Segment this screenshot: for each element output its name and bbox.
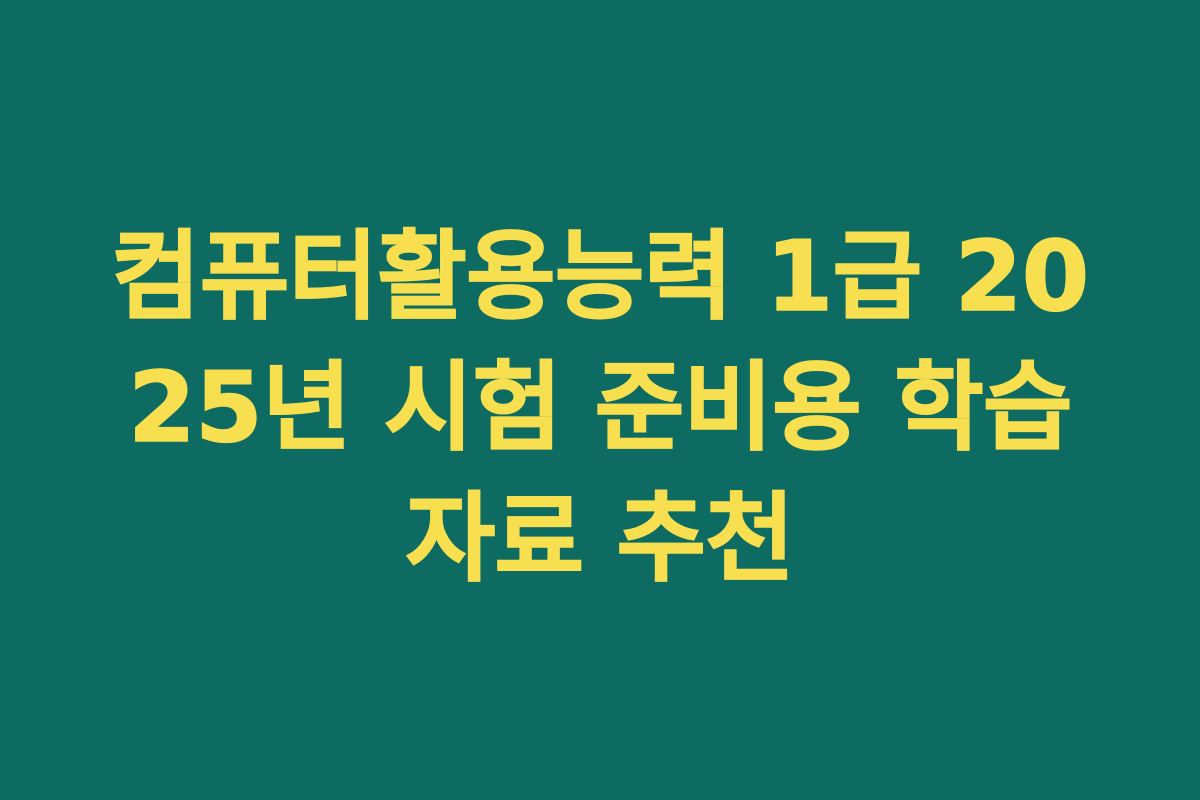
title-line-3: 자료 추천 [95, 473, 1105, 604]
title-line-2: 25년 시험 준비용 학습 [95, 342, 1105, 473]
page-title: 컴퓨터활용능력 1급 20 25년 시험 준비용 학습 자료 추천 [95, 211, 1105, 604]
title-line-1: 컴퓨터활용능력 1급 20 [95, 211, 1105, 342]
thumbnail-card: 컴퓨터활용능력 1급 20 25년 시험 준비용 학습 자료 추천 [0, 0, 1200, 800]
